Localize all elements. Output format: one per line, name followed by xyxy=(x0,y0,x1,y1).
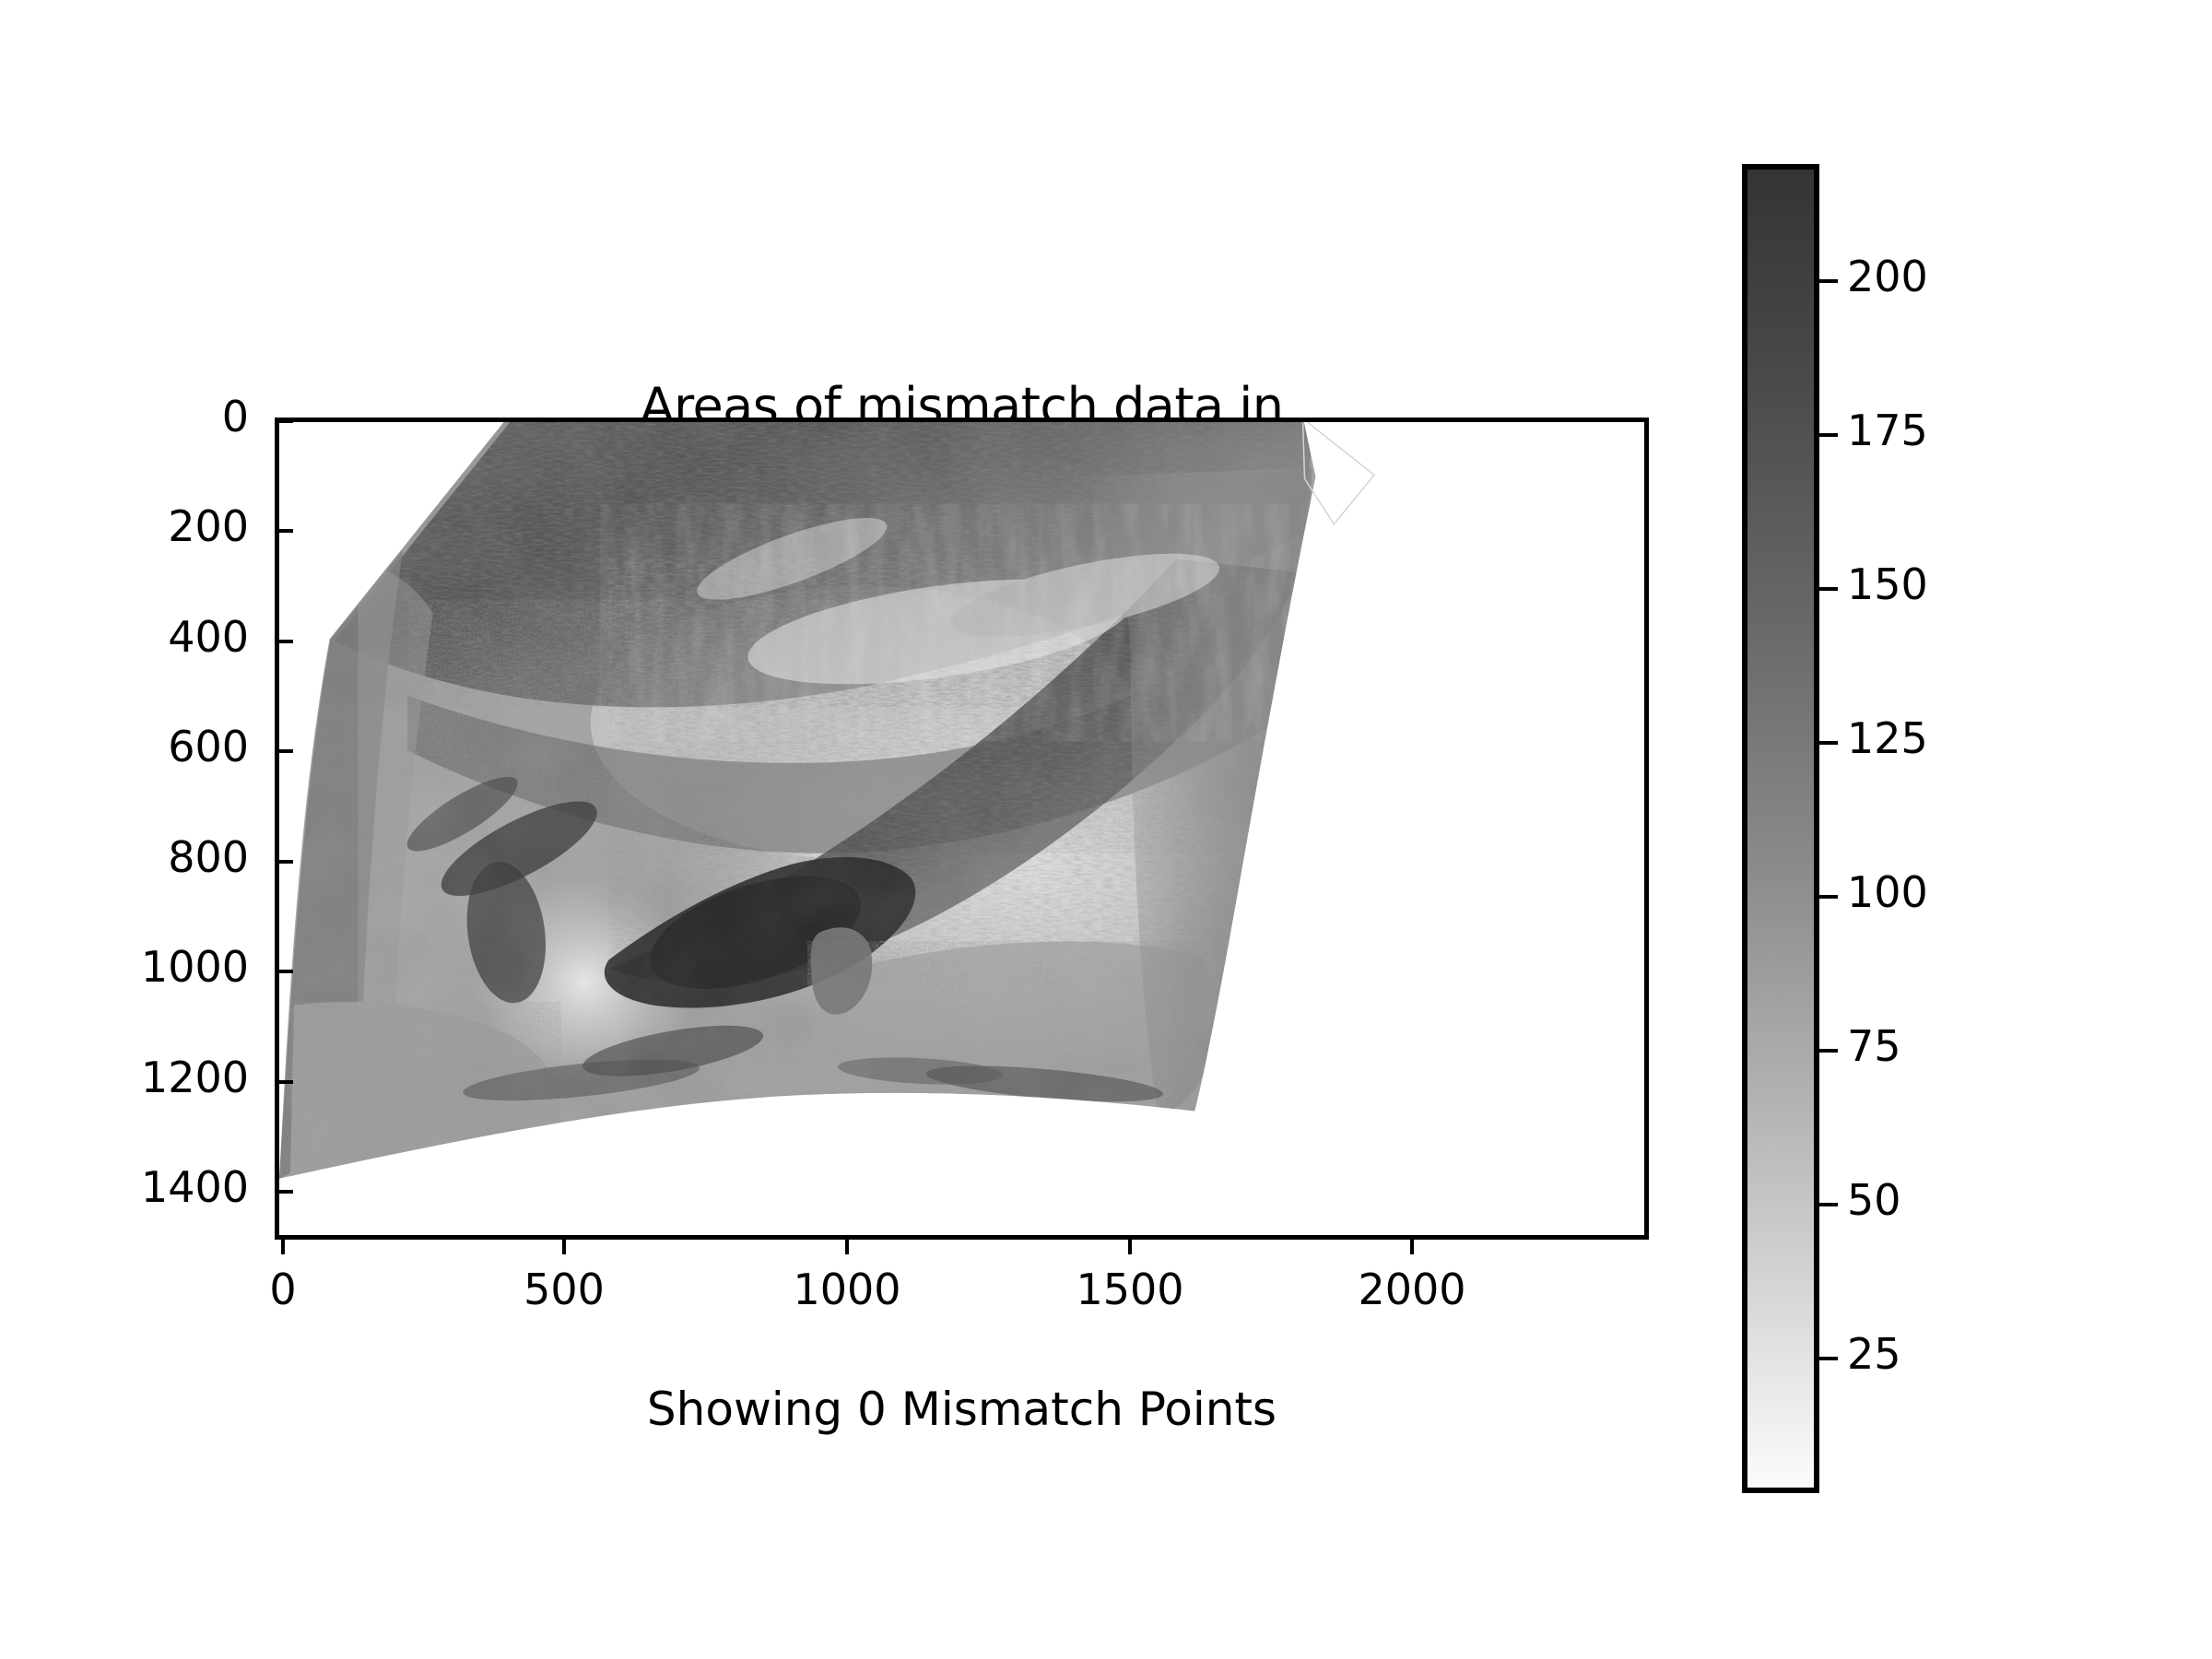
colorbar-tick-label: 200 xyxy=(1847,252,1928,301)
colorbar-tick-label: 75 xyxy=(1847,1021,1901,1071)
colorbar-tick-label: 175 xyxy=(1847,406,1928,455)
colorbar-tick-label: 25 xyxy=(1847,1329,1901,1379)
colorbar-tick-label: 50 xyxy=(1847,1175,1901,1225)
colorbar-tick-mark xyxy=(1819,433,1838,437)
colorbar-tick-mark xyxy=(1819,1203,1838,1206)
y-tick-label: 800 xyxy=(74,832,249,882)
y-tick-mark xyxy=(275,529,293,533)
y-tick-label: 0 xyxy=(74,392,249,441)
colorbar-tick-mark xyxy=(1819,895,1838,899)
colorbar-tick-mark xyxy=(1819,1357,1838,1360)
y-tick-mark xyxy=(275,1190,293,1194)
mismatch-count-caption: Showing 0 Mismatch Points xyxy=(275,1382,1649,1436)
x-tick-mark xyxy=(1128,1236,1132,1254)
y-tick-label: 1400 xyxy=(74,1162,249,1212)
x-tick-mark xyxy=(281,1236,285,1254)
colorbar[interactable] xyxy=(1742,164,1819,1493)
colorbar-tick-mark xyxy=(1819,1049,1838,1053)
x-tick-label: 2000 xyxy=(1320,1265,1504,1314)
colorbar-tick-mark xyxy=(1819,741,1838,745)
colorbar-tick-label: 100 xyxy=(1847,867,1928,917)
y-tick-mark xyxy=(275,419,293,423)
colorbar-tick-label: 125 xyxy=(1847,713,1928,763)
y-tick-mark xyxy=(275,970,293,973)
y-tick-label: 600 xyxy=(74,722,249,771)
x-tick-mark xyxy=(845,1236,849,1254)
x-tick-label: 1500 xyxy=(1038,1265,1222,1314)
matplotlib-figure: Areas of mismatch data in ABI_Brit_val_0… xyxy=(0,0,2212,1659)
y-tick-mark xyxy=(275,749,293,753)
x-tick-mark xyxy=(1410,1236,1414,1254)
colorbar-tick-mark xyxy=(1819,587,1838,591)
y-tick-mark xyxy=(275,860,293,864)
satellite-image xyxy=(279,422,1644,1235)
y-tick-mark xyxy=(275,1080,293,1084)
x-tick-label: 500 xyxy=(472,1265,656,1314)
plot-axes[interactable] xyxy=(275,418,1649,1240)
y-tick-label: 1200 xyxy=(74,1053,249,1102)
y-tick-label: 1000 xyxy=(74,942,249,992)
y-tick-mark xyxy=(275,640,293,643)
colorbar-tick-mark xyxy=(1819,279,1838,283)
colorbar-gradient xyxy=(1747,170,1814,1488)
colorbar-tick-label: 150 xyxy=(1847,559,1928,609)
y-tick-label: 200 xyxy=(74,501,249,551)
x-tick-label: 0 xyxy=(191,1265,375,1314)
x-tick-mark xyxy=(562,1236,566,1254)
x-tick-label: 1000 xyxy=(755,1265,939,1314)
y-tick-label: 400 xyxy=(74,612,249,662)
